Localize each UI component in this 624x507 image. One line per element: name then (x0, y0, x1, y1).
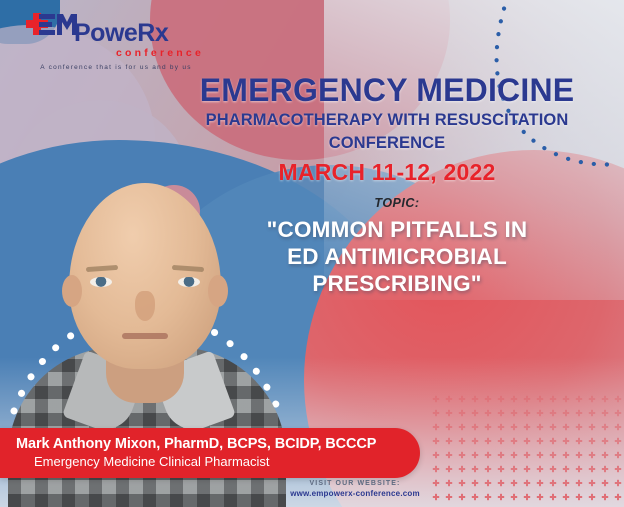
topic-label: TOPIC: (210, 196, 584, 210)
logo-tagline: A conference that is for us and by us (26, 64, 206, 71)
speaker-name: Mark Anthony Mixon, PharmD, BCPS, BCIDP,… (16, 436, 420, 453)
cross-dot-grid-icon (428, 389, 624, 507)
medical-cross-em-icon (26, 12, 78, 46)
headline-main: EMERGENCY MEDICINE (166, 74, 608, 107)
logo-subword: conference (26, 47, 206, 59)
logo-wordmark: PoweRx (74, 21, 168, 46)
speaker-role: Emergency Medicine Clinical Pharmacist (16, 454, 420, 470)
headline-date: MARCH 11-12, 2022 (166, 159, 608, 186)
headline-sub-line2: CONFERENCE (166, 134, 608, 153)
speaker-eye-right (178, 277, 200, 287)
empowerx-logo: PoweRx conference A conference that is f… (26, 12, 206, 71)
headline-sub-line1: PHARMACOTHERAPY WITH RESUSCITATION (166, 111, 608, 130)
topic-line-1: "COMMON PITFALLS IN (210, 216, 584, 243)
website-label: VISIT OUR WEBSITE: (255, 480, 455, 487)
topic-line-3: PRESCRIBING" (210, 270, 584, 297)
headline-block: EMERGENCY MEDICINE PHARMACOTHERAPY WITH … (166, 74, 608, 186)
website-url[interactable]: www.empowerx-conference.com (255, 489, 455, 498)
speaker-nose (135, 291, 155, 321)
speaker-eye-left (90, 277, 112, 287)
speaker-mouth (122, 333, 168, 339)
website-footer: VISIT OUR WEBSITE: www.empowerx-conferen… (255, 480, 455, 498)
topic-title: "COMMON PITFALLS IN ED ANTIMICROBIAL PRE… (210, 216, 584, 297)
topic-block: TOPIC: "COMMON PITFALLS IN ED ANTIMICROB… (210, 196, 584, 297)
topic-line-2: ED ANTIMICROBIAL (210, 243, 584, 270)
speaker-ear-left (62, 275, 82, 307)
conference-promo-poster: PoweRx conference A conference that is f… (0, 0, 624, 507)
speaker-banner: Mark Anthony Mixon, PharmD, BCPS, BCIDP,… (0, 428, 420, 478)
speaker-head (69, 183, 221, 369)
